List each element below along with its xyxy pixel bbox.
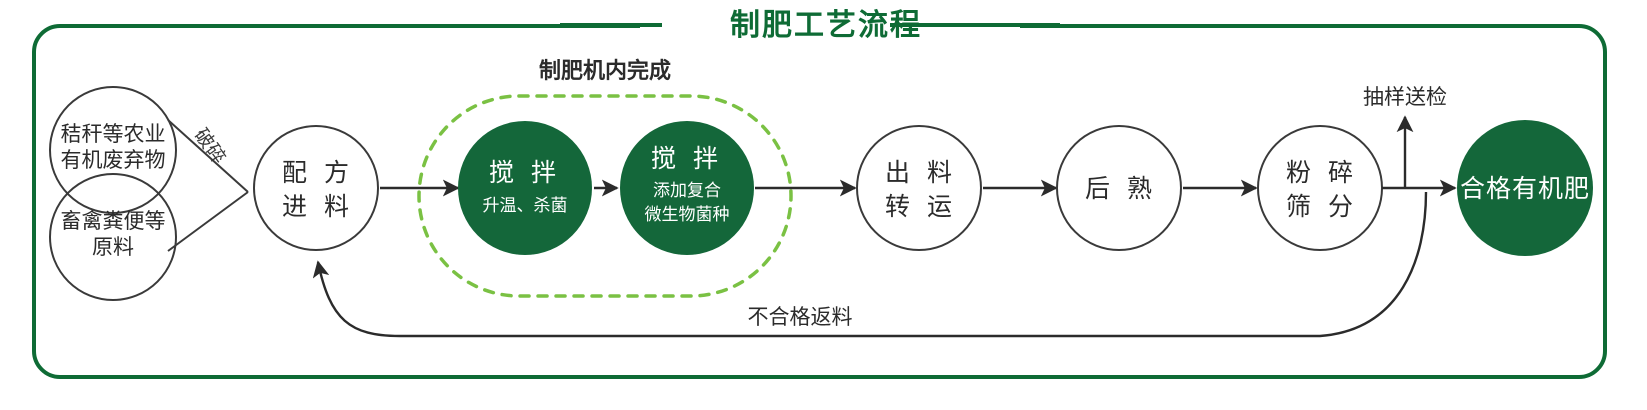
fertilizer-process-diagram: 制肥工艺流程 制肥机内完成 秸秆等农业 有机废弃物 畜禽粪便等 原料 破碎 配 … (0, 0, 1647, 410)
diagram-vector-layer (0, 0, 1647, 410)
node-discharge-circle (857, 126, 981, 250)
edge-source-bottom-to-feed (168, 192, 248, 251)
node-mix1-circle (458, 121, 592, 255)
node-product-circle (1457, 120, 1593, 256)
node-source-top-circle (50, 87, 176, 213)
node-mix2-circle (620, 121, 754, 255)
node-feed-circle (254, 126, 378, 250)
node-crush-circle (1258, 126, 1382, 250)
node-ripen-circle (1057, 126, 1181, 250)
